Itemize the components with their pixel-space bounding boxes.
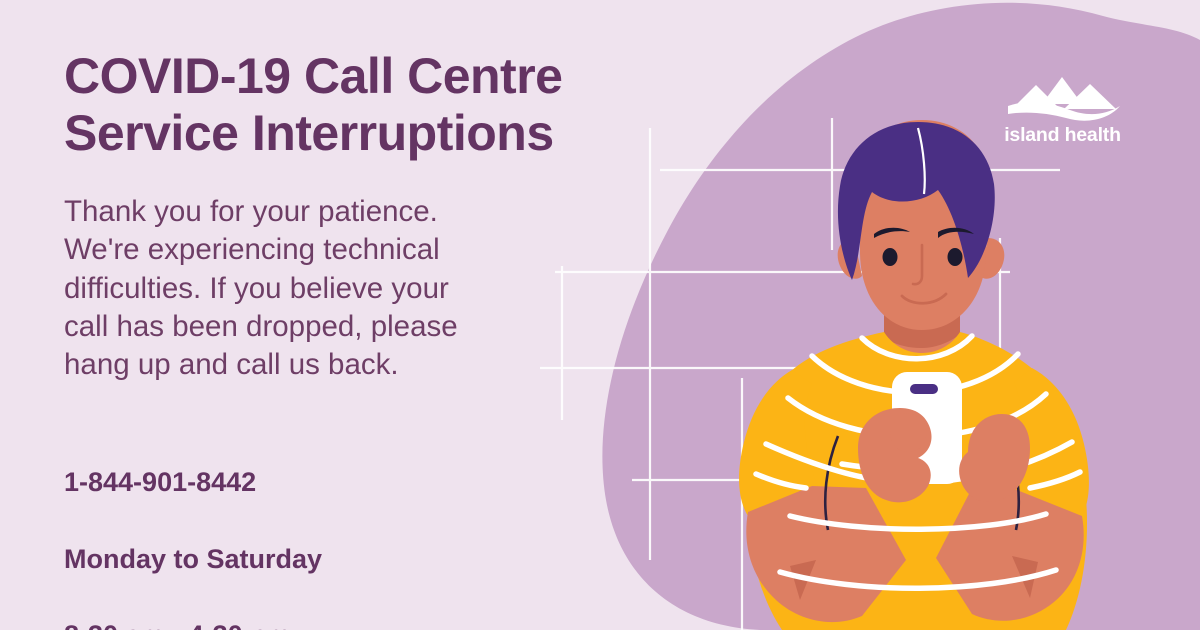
text-column: COVID-19 Call Centre Service Interruptio… [64, 48, 704, 630]
body-message: Thank you for your patience. We're exper… [64, 193, 494, 385]
page-title: COVID-19 Call Centre Service Interruptio… [64, 48, 704, 161]
phone-number[interactable]: 1-844-901-8442 [64, 463, 704, 501]
phone-speaker [910, 384, 938, 394]
three-peaks-and-wave-icon [1000, 74, 1125, 122]
contact-block: 1-844-901-8442 Monday to Saturday 8:30 a… [64, 425, 704, 630]
logo-wordmark: island health [1000, 124, 1125, 147]
poster-canvas: COVID-19 Call Centre Service Interruptio… [0, 0, 1200, 630]
island-health-logo: island health [1000, 74, 1125, 147]
service-days: Monday to Saturday [64, 540, 704, 578]
service-hours: 8:30 am - 4:30 pm [64, 616, 704, 630]
eye-right [948, 248, 963, 266]
eye-left [883, 248, 898, 266]
